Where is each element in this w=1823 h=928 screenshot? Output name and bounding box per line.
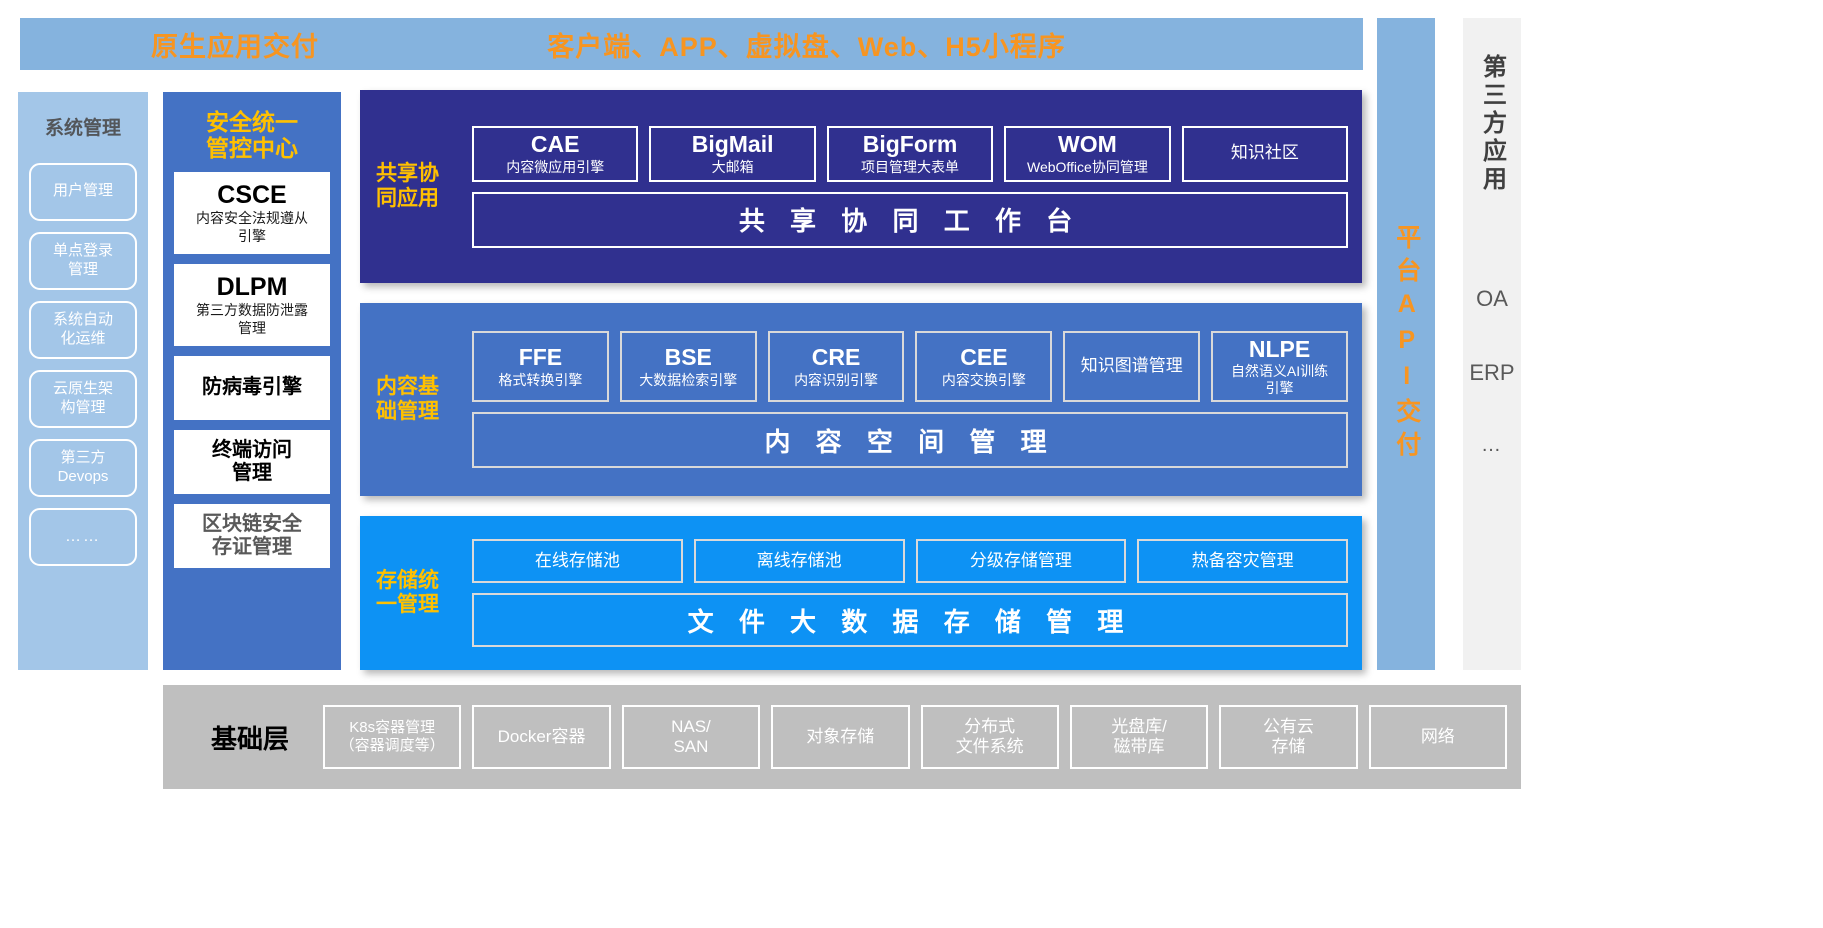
bse-abbr: BSE — [665, 345, 712, 370]
third-party-item-oa[interactable]: OA — [1476, 286, 1508, 312]
sidebar-item-third-party-devops[interactable]: 第三方 Devops — [29, 439, 137, 497]
optical-line-2: 磁带库 — [1114, 737, 1165, 757]
cae-desc: 内容微应用引擎 — [506, 159, 604, 175]
pill-line-1: 单点登录 — [53, 242, 113, 261]
public-cloud-line-1: 公有云 — [1263, 717, 1314, 737]
third-party-item-erp[interactable]: ERP — [1469, 360, 1514, 386]
dfs-line-1: 分布式 — [964, 717, 1015, 737]
ffe-desc: 格式转换引擎 — [498, 372, 582, 388]
infra-chip-object-storage[interactable]: 对象存储 — [771, 705, 909, 769]
content-space-management-bar[interactable]: 内 容 空 间 管 理 — [472, 412, 1348, 468]
chip-tiered-storage-management[interactable]: 分级存储管理 — [916, 539, 1127, 583]
system-management-title: 系统管理 — [45, 118, 121, 141]
cee-desc: 内容交换引擎 — [942, 372, 1026, 388]
band-content-body: FFE 格式转换引擎 BSE 大数据检索引擎 CRE 内容识别引擎 CEE 内容… — [472, 331, 1362, 468]
security-control-center-title: 安全统一 管控中心 — [206, 110, 298, 162]
band-storage-label-line-2: 一管理 — [376, 593, 472, 617]
pill-line-1: 用户管理 — [53, 182, 113, 201]
sidebar-item-user-management[interactable]: 用户管理 — [29, 163, 137, 221]
band-storage-unified-management: 存储统 一管理 在线存储池 离线存储池 分级存储管理 热备容灾管理 文 件 大 … — [360, 516, 1362, 670]
bigmail-abbr: BigMail — [692, 132, 774, 157]
chip-knowledge-community[interactable]: 知识社区 — [1182, 126, 1348, 182]
nlpe-desc-line-2: 引擎 — [1266, 380, 1294, 396]
infra-chip-distributed-filesystem[interactable]: 分布式 文件系统 — [921, 705, 1059, 769]
dfs-line-2: 文件系统 — [956, 737, 1024, 757]
security-card-antivirus-engine[interactable]: 防病毒引擎 — [174, 356, 330, 420]
cre-abbr: CRE — [812, 345, 861, 370]
security-card-csce[interactable]: CSCE 内容安全法规遵从 引擎 — [174, 172, 330, 254]
csce-desc-line-2: 引擎 — [238, 228, 266, 245]
security-card-blockchain-evidence[interactable]: 区块链安全 存证管理 — [174, 504, 330, 568]
band-content-label-line-1: 内容基 — [376, 375, 472, 399]
public-cloud-line-2: 存储 — [1271, 737, 1305, 757]
nlpe-abbr: NLPE — [1249, 337, 1310, 362]
dlpm-desc-line-2: 管理 — [238, 320, 266, 337]
security-card-terminal-access[interactable]: 终端访问 管理 — [174, 430, 330, 494]
terminal-access-line-2: 管理 — [232, 462, 272, 484]
chip-cre[interactable]: CRE 内容识别引擎 — [768, 331, 905, 402]
infra-chip-public-cloud-storage[interactable]: 公有云 存储 — [1219, 705, 1357, 769]
offline-storage-pool-label: 离线存储池 — [757, 551, 842, 571]
pill-line-1: …… — [65, 527, 101, 547]
band-content-foundation: 内容基 础管理 FFE 格式转换引擎 BSE 大数据检索引擎 CRE 内容识别引… — [360, 303, 1362, 496]
third-party-applications-column: 第三方应用 OA ERP … — [1463, 18, 1521, 670]
chip-bigmail[interactable]: BigMail 大邮箱 — [649, 126, 815, 182]
band-collab-body: CAE 内容微应用引擎 BigMail 大邮箱 BigForm 项目管理大表单 … — [472, 126, 1362, 248]
file-bigdata-storage-management-bar[interactable]: 文 件 大 数 据 存 储 管 理 — [472, 593, 1348, 647]
k8s-line-1: K8s容器管理 — [349, 719, 435, 737]
infra-chip-k8s-container-management[interactable]: K8s容器管理 （容器调度等） — [323, 705, 461, 769]
chip-offline-storage-pool[interactable]: 离线存储池 — [694, 539, 905, 583]
pill-line-1: 第三方 — [60, 449, 105, 468]
band-collab-chip-row: CAE 内容微应用引擎 BigMail 大邮箱 BigForm 项目管理大表单 … — [472, 126, 1348, 182]
infra-chip-network[interactable]: 网络 — [1369, 705, 1507, 769]
object-storage-line-1: 对象存储 — [806, 727, 874, 747]
blockchain-line-2: 存证管理 — [212, 536, 292, 558]
pill-line-1: 系统自动 — [53, 311, 113, 330]
terminal-access-line-1: 终端访问 — [212, 439, 292, 461]
sidebar-item-cloud-native-arch[interactable]: 云原生架 构管理 — [29, 370, 137, 428]
pill-line-2: 构管理 — [60, 399, 105, 418]
nlpe-desc-line-1: 自然语义AI训练 — [1231, 363, 1328, 379]
band-storage-body: 在线存储池 离线存储池 分级存储管理 热备容灾管理 文 件 大 数 据 存 储 … — [472, 539, 1362, 647]
pill-line-2: 管理 — [68, 261, 98, 280]
chip-cae[interactable]: CAE 内容微应用引擎 — [472, 126, 638, 182]
hot-standby-dr-management-label: 热备容灾管理 — [1192, 551, 1294, 571]
infrastructure-layer-title: 基础层 — [177, 719, 323, 756]
system-management-column: 系统管理 用户管理 单点登录 管理 系统自动 化运维 云原生架 构管理 第三方 … — [18, 92, 148, 670]
pill-line-2: Devops — [58, 468, 109, 487]
band-content-label: 内容基 础管理 — [360, 375, 472, 423]
knowledge-graph-label: 知识图谱管理 — [1081, 356, 1183, 376]
band-content-label-line-2: 础管理 — [376, 400, 472, 424]
infra-chip-optical-tape-library[interactable]: 光盘库/ 磁带库 — [1070, 705, 1208, 769]
ffe-abbr: FFE — [519, 345, 562, 370]
band-storage-chip-row: 在线存储池 离线存储池 分级存储管理 热备容灾管理 — [472, 539, 1348, 583]
wom-desc: WebOffice协同管理 — [1027, 159, 1148, 175]
infra-chip-nas-san[interactable]: NAS/ SAN — [622, 705, 760, 769]
chip-online-storage-pool[interactable]: 在线存储池 — [472, 539, 683, 583]
pill-line-2: 化运维 — [60, 330, 105, 349]
band-storage-label-line-1: 存储统 — [376, 569, 472, 593]
band-collab-label-line-1: 共享协 — [376, 162, 472, 186]
third-party-applications-title: 第三方应用 — [1475, 54, 1510, 194]
banner-client-channels-label: 客户端、APP、虚拟盘、Web、H5小程序 — [450, 25, 1363, 64]
top-banner: 原生应用交付 客户端、APP、虚拟盘、Web、H5小程序 — [20, 18, 1363, 70]
bigform-desc: 项目管理大表单 — [861, 159, 959, 175]
band-storage-label: 存储统 一管理 — [360, 569, 472, 617]
third-party-item-more[interactable]: … — [1481, 434, 1503, 457]
chip-hot-standby-dr-management[interactable]: 热备容灾管理 — [1137, 539, 1348, 583]
security-control-center-column: 安全统一 管控中心 CSCE 内容安全法规遵从 引擎 DLPM 第三方数据防泄露… — [163, 92, 341, 670]
bse-desc: 大数据检索引擎 — [639, 372, 737, 388]
dlpm-abbr: DLPM — [217, 273, 288, 301]
security-title-line-1: 安全统一 — [206, 110, 298, 136]
infra-chip-docker-container[interactable]: Docker容器 — [472, 705, 610, 769]
csce-desc-line-1: 内容安全法规遵从 — [196, 210, 308, 227]
sidebar-item-automated-ops[interactable]: 系统自动 化运维 — [29, 301, 137, 359]
chip-ffe[interactable]: FFE 格式转换引擎 — [472, 331, 609, 402]
sidebar-item-sso-management[interactable]: 单点登录 管理 — [29, 232, 137, 290]
chip-cee[interactable]: CEE 内容交换引擎 — [915, 331, 1052, 402]
csce-abbr: CSCE — [217, 181, 286, 209]
k8s-line-2: （容器调度等） — [340, 737, 445, 755]
tiered-storage-management-label: 分级存储管理 — [970, 551, 1072, 571]
infrastructure-chip-row: K8s容器管理 （容器调度等） Docker容器 NAS/ SAN 对象存储 分… — [323, 705, 1507, 769]
online-storage-pool-label: 在线存储池 — [535, 551, 620, 571]
platform-api-delivery-column: 平台API交付 — [1377, 18, 1435, 670]
cre-desc: 内容识别引擎 — [794, 372, 878, 388]
chip-bse[interactable]: BSE 大数据检索引擎 — [620, 331, 757, 402]
knowledge-community-label: 知识社区 — [1231, 143, 1299, 163]
blockchain-line-1: 区块链安全 — [202, 513, 302, 535]
infrastructure-layer: 基础层 K8s容器管理 （容器调度等） Docker容器 NAS/ SAN 对象… — [163, 685, 1521, 789]
cee-abbr: CEE — [960, 345, 1007, 370]
pill-line-1: 云原生架 — [53, 380, 113, 399]
platform-api-delivery-label: 平台API交付 — [1392, 224, 1420, 464]
band-collab-label: 共享协 同应用 — [360, 162, 472, 210]
security-title-line-2: 管控中心 — [206, 136, 298, 162]
cae-abbr: CAE — [531, 132, 580, 157]
nas-line-2: SAN — [673, 737, 708, 757]
shared-collaboration-workbench-bar[interactable]: 共 享 协 同 工 作 台 — [472, 192, 1348, 248]
chip-nlpe[interactable]: NLPE 自然语义AI训练 引擎 — [1211, 331, 1348, 402]
optical-line-1: 光盘库/ — [1111, 717, 1167, 737]
band-content-chip-row: FFE 格式转换引擎 BSE 大数据检索引擎 CRE 内容识别引擎 CEE 内容… — [472, 331, 1348, 402]
security-card-dlpm[interactable]: DLPM 第三方数据防泄露 管理 — [174, 264, 330, 346]
nas-line-1: NAS/ — [671, 717, 711, 737]
antivirus-engine-label: 防病毒引擎 — [202, 376, 302, 398]
chip-wom[interactable]: WOM WebOffice协同管理 — [1004, 126, 1170, 182]
sidebar-item-more[interactable]: …… — [29, 508, 137, 566]
bigmail-desc: 大邮箱 — [712, 159, 754, 175]
banner-native-app-delivery-label: 原生应用交付 — [20, 25, 450, 64]
dlpm-desc-line-1: 第三方数据防泄露 — [196, 302, 308, 319]
wom-abbr: WOM — [1058, 132, 1117, 157]
bigform-abbr: BigForm — [863, 132, 958, 157]
chip-knowledge-graph[interactable]: 知识图谱管理 — [1063, 331, 1200, 402]
main-layer-stack: 共享协 同应用 CAE 内容微应用引擎 BigMail 大邮箱 BigForm … — [360, 90, 1362, 670]
band-collab-label-line-2: 同应用 — [376, 187, 472, 211]
docker-line-1: Docker容器 — [498, 727, 586, 747]
band-shared-collaboration: 共享协 同应用 CAE 内容微应用引擎 BigMail 大邮箱 BigForm … — [360, 90, 1362, 283]
chip-bigform[interactable]: BigForm 项目管理大表单 — [827, 126, 993, 182]
network-line-1: 网络 — [1421, 727, 1455, 747]
